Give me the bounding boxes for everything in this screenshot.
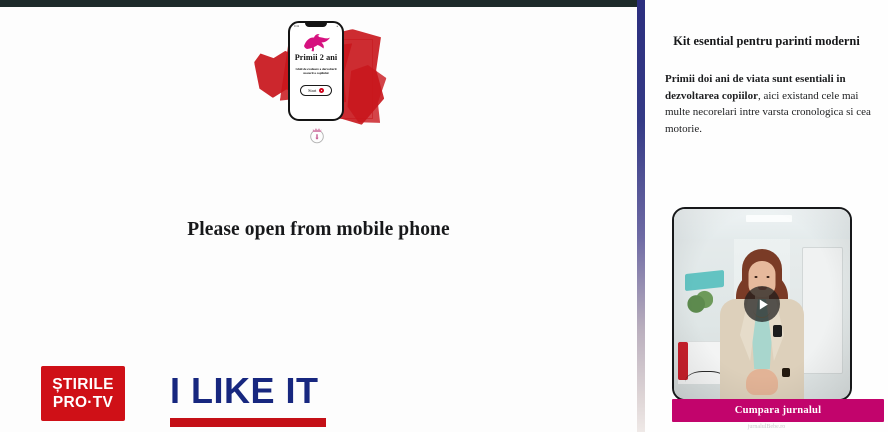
cta-label: Cumpara jurnalul xyxy=(735,405,822,416)
ilikeit-logo-text: I LIKE IT xyxy=(170,372,326,410)
phone-mockup: 9:41 ≡ Primii 2 ani Ghid de evaluare a d… xyxy=(288,21,344,121)
phone-app-title: Primii 2 ani xyxy=(295,53,338,62)
phone-status-bar: 9:41 ≡ xyxy=(290,24,342,29)
phone-start-button[interactable]: Start xyxy=(300,85,332,96)
phone-start-label: Start xyxy=(308,88,316,93)
crown-circle-icon xyxy=(308,125,326,145)
ilikeit-underline-bar xyxy=(170,418,326,427)
phone-status-icons: ≡ xyxy=(336,24,338,29)
phone-status-time: 9:41 xyxy=(294,24,299,29)
stork-bird-icon xyxy=(301,33,331,52)
article-body: Primii doi ani de viata sunt esentiali i… xyxy=(665,71,872,137)
play-triangle-icon[interactable] xyxy=(744,286,780,322)
brand-logo-row: ȘTIRILE PRO·TV I LIKE IT xyxy=(41,366,326,432)
stirile-protv-logo: ȘTIRILE PRO·TV xyxy=(41,366,125,421)
phone-app-subtitle: Ghid de evaluare a dezvoltarii motorii a… xyxy=(295,67,337,76)
protv-logo-line2: PRO·TV xyxy=(53,394,113,411)
right-article-panel: Kit esential pentru parinti moderni Prim… xyxy=(645,0,888,432)
protv-logo-line1: ȘTIRILE xyxy=(52,376,114,393)
panel-divider xyxy=(637,0,645,432)
browser-viewport: 9:41 ≡ Primii 2 ani Ghid de evaluare a d… xyxy=(0,0,888,432)
hero-section: 9:41 ≡ Primii 2 ani Ghid de evaluare a d… xyxy=(0,7,637,157)
article-heading: Kit esential pentru parinti moderni xyxy=(663,33,870,49)
left-landing-panel: 9:41 ≡ Primii 2 ani Ghid de evaluare a d… xyxy=(0,7,637,432)
play-dot-icon xyxy=(319,88,324,93)
top-browser-bar xyxy=(0,0,637,7)
ilikeit-logo: I LIKE IT xyxy=(170,366,326,427)
open-from-mobile-message: Please open from mobile phone xyxy=(0,219,637,241)
footer-site-text: jurnalulBebe.ro xyxy=(645,424,888,430)
video-thumbnail[interactable] xyxy=(672,207,852,401)
cumpara-jurnalul-button[interactable]: Cumpara jurnalul xyxy=(672,399,884,422)
